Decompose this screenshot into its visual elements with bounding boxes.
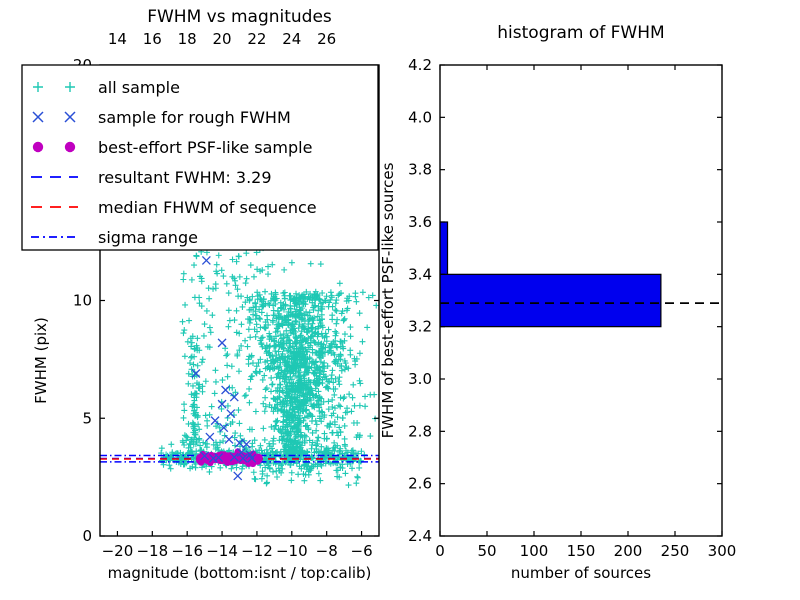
plus-marker <box>244 276 250 282</box>
plus-marker <box>213 285 219 291</box>
plus-marker <box>262 289 268 295</box>
plus-marker <box>189 277 195 283</box>
plus-marker <box>352 362 358 368</box>
cross-marker <box>225 435 233 443</box>
plus-marker <box>232 430 238 436</box>
plus-marker <box>272 348 278 354</box>
plus-marker <box>217 465 223 471</box>
left-xtick-label: −6 <box>351 542 373 560</box>
plus-marker <box>274 474 280 480</box>
plus-marker <box>203 412 209 418</box>
plus-marker <box>185 339 191 345</box>
left-top-tick-label: 18 <box>178 30 197 48</box>
plus-marker <box>268 375 274 381</box>
plus-marker <box>252 476 258 482</box>
plus-marker <box>289 260 295 266</box>
matplotlib-figure: FWHM vs magnitudes14161820222426−20−18−1… <box>0 0 800 600</box>
plus-marker <box>242 393 248 399</box>
plus-marker <box>201 333 207 339</box>
plus-marker <box>335 414 341 420</box>
plus-marker <box>232 317 238 323</box>
plus-marker <box>238 321 244 327</box>
plus-marker <box>352 403 358 409</box>
plus-marker <box>208 329 214 335</box>
plus-marker <box>257 325 263 331</box>
plus-marker <box>342 331 348 337</box>
plus-marker <box>353 299 359 305</box>
right-xtick-label: 50 <box>477 542 496 560</box>
plus-marker <box>333 321 339 327</box>
legend-label: sigma range <box>98 228 198 247</box>
plus-marker <box>351 420 357 426</box>
plus-marker <box>317 478 323 484</box>
plus-marker <box>288 477 294 483</box>
right-plot-title: histogram of FWHM <box>497 23 664 43</box>
plus-marker <box>336 424 342 430</box>
plus-marker <box>246 326 252 332</box>
right-ytick-label: 3.2 <box>408 318 432 336</box>
plus-marker <box>354 474 360 480</box>
plus-marker <box>264 385 270 391</box>
plus-marker <box>219 377 225 383</box>
plus-marker <box>357 403 363 409</box>
plus-marker <box>187 360 193 366</box>
plus-marker <box>212 390 218 396</box>
plus-marker <box>196 426 202 432</box>
plus-marker <box>360 289 366 295</box>
plus-marker <box>342 436 348 442</box>
right-xtick-label: 100 <box>520 542 549 560</box>
plus-marker <box>206 469 212 475</box>
plus-marker <box>204 418 210 424</box>
plus-marker <box>265 271 271 277</box>
left-top-tick-label: 22 <box>247 30 266 48</box>
plus-marker <box>359 339 365 345</box>
right-xtick-label: 0 <box>435 542 445 560</box>
plus-marker <box>228 466 234 472</box>
plus-marker <box>334 317 340 323</box>
plus-marker <box>204 308 210 314</box>
plus-marker <box>263 386 269 392</box>
left-xtick-label: −16 <box>171 542 203 560</box>
plus-marker <box>260 425 266 431</box>
right-ytick-label: 2.6 <box>408 475 432 493</box>
plus-marker <box>357 350 363 356</box>
right-xtick-label: 250 <box>661 542 690 560</box>
cross-marker <box>202 256 210 264</box>
right-ytick-label: 3.6 <box>408 213 432 231</box>
plus-marker <box>236 368 242 374</box>
left-top-tick-label: 14 <box>108 30 127 48</box>
plus-marker <box>347 347 353 353</box>
plus-marker <box>367 392 373 398</box>
plus-marker <box>270 469 276 475</box>
plus-marker <box>237 274 243 280</box>
plus-marker <box>209 404 215 410</box>
plus-marker <box>347 324 353 330</box>
plus-marker <box>336 402 342 408</box>
plus-marker <box>340 415 346 421</box>
plus-marker <box>219 267 225 273</box>
plus-marker <box>332 422 338 428</box>
plus-marker <box>353 480 359 486</box>
plus-marker <box>342 423 348 429</box>
plus-marker <box>243 280 249 286</box>
plus-marker <box>206 285 212 291</box>
legend-label: resultant FWHM: 3.29 <box>98 168 272 187</box>
plus-marker <box>348 408 354 414</box>
right-ytick-label: 4.2 <box>408 56 432 74</box>
plus-marker <box>338 395 344 401</box>
plus-marker <box>202 321 208 327</box>
plus-marker <box>318 261 324 267</box>
plus-marker <box>321 360 327 366</box>
plus-marker <box>341 394 347 400</box>
plus-marker <box>362 403 368 409</box>
plus-marker <box>181 401 187 407</box>
plus-marker <box>204 444 210 450</box>
plus-marker <box>264 479 270 485</box>
left-xtick-label: −18 <box>136 542 168 560</box>
plus-marker <box>180 277 186 283</box>
plus-marker <box>261 373 267 379</box>
plus-marker <box>364 324 370 330</box>
plus-marker <box>224 362 230 368</box>
plus-marker <box>203 378 209 384</box>
plus-marker <box>244 344 250 350</box>
plus-marker <box>186 318 192 324</box>
right-yaxis-label: FWHM of best-effort PSF-like sources <box>379 162 397 438</box>
plus-marker <box>262 408 268 414</box>
right-ytick-label: 3.8 <box>408 161 432 179</box>
plus-marker <box>168 441 174 447</box>
plus-marker <box>329 367 335 373</box>
plus-marker <box>334 430 340 436</box>
plus-marker <box>251 274 257 280</box>
plus-marker <box>257 316 263 322</box>
legend-label: all sample <box>98 78 180 97</box>
legend-circle-icon <box>65 142 75 152</box>
histogram-bars-group <box>440 222 722 327</box>
plus-marker <box>332 307 338 313</box>
plus-marker <box>318 418 324 424</box>
plus-marker <box>199 359 205 365</box>
plus-marker <box>182 302 188 308</box>
plus-marker <box>259 309 265 315</box>
plus-marker <box>295 471 301 477</box>
left-xtick-label: −20 <box>102 542 134 560</box>
histogram-bar <box>440 274 661 326</box>
circle-marker <box>256 456 263 463</box>
plus-marker <box>336 381 342 387</box>
plus-marker <box>199 389 205 395</box>
left-xtick-label: −10 <box>276 542 308 560</box>
plus-marker <box>225 324 231 330</box>
plus-marker <box>212 367 218 373</box>
left-top-tick-label: 26 <box>317 30 336 48</box>
right-xtick-label: 200 <box>614 542 643 560</box>
plus-marker <box>181 271 187 277</box>
plus-marker <box>246 400 252 406</box>
plus-marker <box>281 267 287 273</box>
plus-marker <box>316 471 322 477</box>
plus-marker <box>253 334 259 340</box>
plus-marker <box>214 262 220 268</box>
plus-marker <box>213 379 219 385</box>
plus-marker <box>253 409 259 415</box>
cross-marker <box>206 433 214 441</box>
plus-marker <box>303 434 309 440</box>
plus-marker <box>225 374 231 380</box>
plus-marker <box>189 340 195 346</box>
plus-marker <box>270 381 276 387</box>
right-xaxis-label: number of sources <box>511 564 651 582</box>
plus-marker <box>334 308 340 314</box>
histogram-bar <box>440 222 448 274</box>
left-xtick-label: −12 <box>241 542 273 560</box>
plus-marker <box>159 445 165 451</box>
plus-marker <box>356 465 362 471</box>
plus-marker <box>226 290 232 296</box>
plus-marker <box>182 353 188 359</box>
plus-marker <box>262 437 268 443</box>
plus-marker <box>236 420 242 426</box>
plus-marker <box>357 310 363 316</box>
left-top-tick-label: 16 <box>143 30 162 48</box>
plus-marker <box>337 280 343 286</box>
plus-marker <box>247 334 253 340</box>
plus-marker <box>337 403 343 409</box>
left-top-tick-label: 20 <box>213 30 232 48</box>
right-xtick-label: 150 <box>567 542 596 560</box>
plus-marker <box>216 252 222 258</box>
plus-marker <box>194 253 200 259</box>
plus-marker <box>207 325 213 331</box>
plus-marker <box>332 405 338 411</box>
plus-marker <box>355 475 361 481</box>
plus-marker <box>209 312 215 318</box>
right-ytick-label: 2.4 <box>408 527 432 545</box>
right-ytick-label: 2.8 <box>408 422 432 440</box>
plus-marker <box>272 342 278 348</box>
plus-marker <box>180 319 186 325</box>
plus-marker <box>267 466 273 472</box>
plus-marker <box>223 353 229 359</box>
left-yaxis-label: FWHM (pix) <box>32 317 50 404</box>
plus-marker <box>352 294 358 300</box>
plus-marker <box>246 361 252 367</box>
plus-marker <box>314 421 320 427</box>
plus-marker <box>234 308 240 314</box>
plus-marker <box>259 476 265 482</box>
plus-marker <box>344 409 350 415</box>
plus-marker <box>226 307 232 313</box>
left-plot-title: FWHM vs magnitudes <box>147 7 332 27</box>
cross-marker <box>234 472 242 480</box>
left-ytick-label: 5 <box>82 409 92 427</box>
plus-marker <box>262 395 268 401</box>
legend-circle-icon <box>33 142 43 152</box>
plus-marker <box>331 440 337 446</box>
plus-marker <box>263 481 269 487</box>
plus-marker <box>257 443 263 449</box>
plus-marker <box>309 418 315 424</box>
plus-marker <box>346 482 352 488</box>
plus-marker <box>183 433 189 439</box>
left-top-tick-label: 24 <box>282 30 301 48</box>
plus-marker <box>333 300 339 306</box>
right-ytick-label: 3.0 <box>408 370 432 388</box>
plus-marker <box>251 469 257 475</box>
plus-marker <box>235 293 241 299</box>
plus-marker <box>210 286 216 292</box>
cross-marker <box>218 339 226 347</box>
plus-marker <box>308 261 314 267</box>
plus-marker <box>326 327 332 333</box>
figure-canvas: FWHM vs magnitudes14161820222426−20−18−1… <box>0 0 800 600</box>
plus-marker <box>191 262 197 268</box>
plus-marker <box>186 371 192 377</box>
legend-label: sample for rough FWHM <box>98 108 291 127</box>
plus-marker <box>342 470 348 476</box>
plus-marker <box>237 433 243 439</box>
plus-marker <box>243 392 249 398</box>
plus-marker <box>268 388 274 394</box>
plus-marker <box>181 415 187 421</box>
plus-marker <box>248 374 254 380</box>
plus-marker <box>180 330 186 336</box>
plus-marker <box>264 313 270 319</box>
plus-marker <box>168 466 174 472</box>
plus-marker <box>193 465 199 471</box>
plus-marker <box>224 281 230 287</box>
plus-marker <box>181 407 187 413</box>
plus-marker <box>229 363 235 369</box>
legend-box <box>22 65 378 250</box>
plus-marker <box>326 304 332 310</box>
plus-marker <box>242 338 248 344</box>
plus-marker <box>243 250 249 256</box>
plus-marker <box>350 395 356 401</box>
plus-marker <box>224 351 230 357</box>
left-xtick-label: −14 <box>206 542 238 560</box>
plus-marker <box>235 407 241 413</box>
plus-marker <box>166 462 172 468</box>
left-xtick-label: −8 <box>316 542 338 560</box>
right-ytick-label: 3.4 <box>408 265 432 283</box>
right-ytick-label: 4.0 <box>408 108 432 126</box>
plus-marker <box>200 356 206 362</box>
plus-marker <box>239 304 245 310</box>
plus-marker <box>350 382 356 388</box>
plus-marker <box>188 355 194 361</box>
legend-label: best-effort PSF-like sample <box>98 138 312 157</box>
plus-marker <box>281 293 287 299</box>
plus-marker <box>248 262 254 268</box>
plus-marker <box>260 377 266 383</box>
plus-marker <box>340 395 346 401</box>
plus-marker <box>314 438 320 444</box>
plus-marker <box>250 360 256 366</box>
plus-marker <box>196 295 202 301</box>
left-ytick-label: 0 <box>82 527 92 545</box>
plus-marker <box>346 391 352 397</box>
plus-marker <box>195 363 201 369</box>
plus-marker <box>197 443 203 449</box>
plus-marker <box>329 312 335 318</box>
plus-marker <box>348 333 354 339</box>
left-xaxis-label: magnitude (bottom:isnt / top:calib) <box>108 564 372 582</box>
plus-marker <box>220 273 226 279</box>
plus-marker <box>289 470 295 476</box>
plus-marker <box>181 327 187 333</box>
plus-marker <box>301 478 307 484</box>
left-ytick-label: 10 <box>73 292 92 310</box>
cross-marker <box>230 393 238 401</box>
plus-marker <box>315 434 321 440</box>
plus-marker <box>362 393 368 399</box>
legend-label: median FHWM of sequence <box>98 198 317 217</box>
plus-marker <box>280 290 286 296</box>
cross-marker <box>222 386 230 394</box>
plus-marker <box>266 302 272 308</box>
plus-marker <box>246 386 252 392</box>
plus-marker <box>367 433 373 439</box>
plus-marker <box>328 289 334 295</box>
right-xtick-label: 300 <box>708 542 737 560</box>
plus-marker <box>206 296 212 302</box>
